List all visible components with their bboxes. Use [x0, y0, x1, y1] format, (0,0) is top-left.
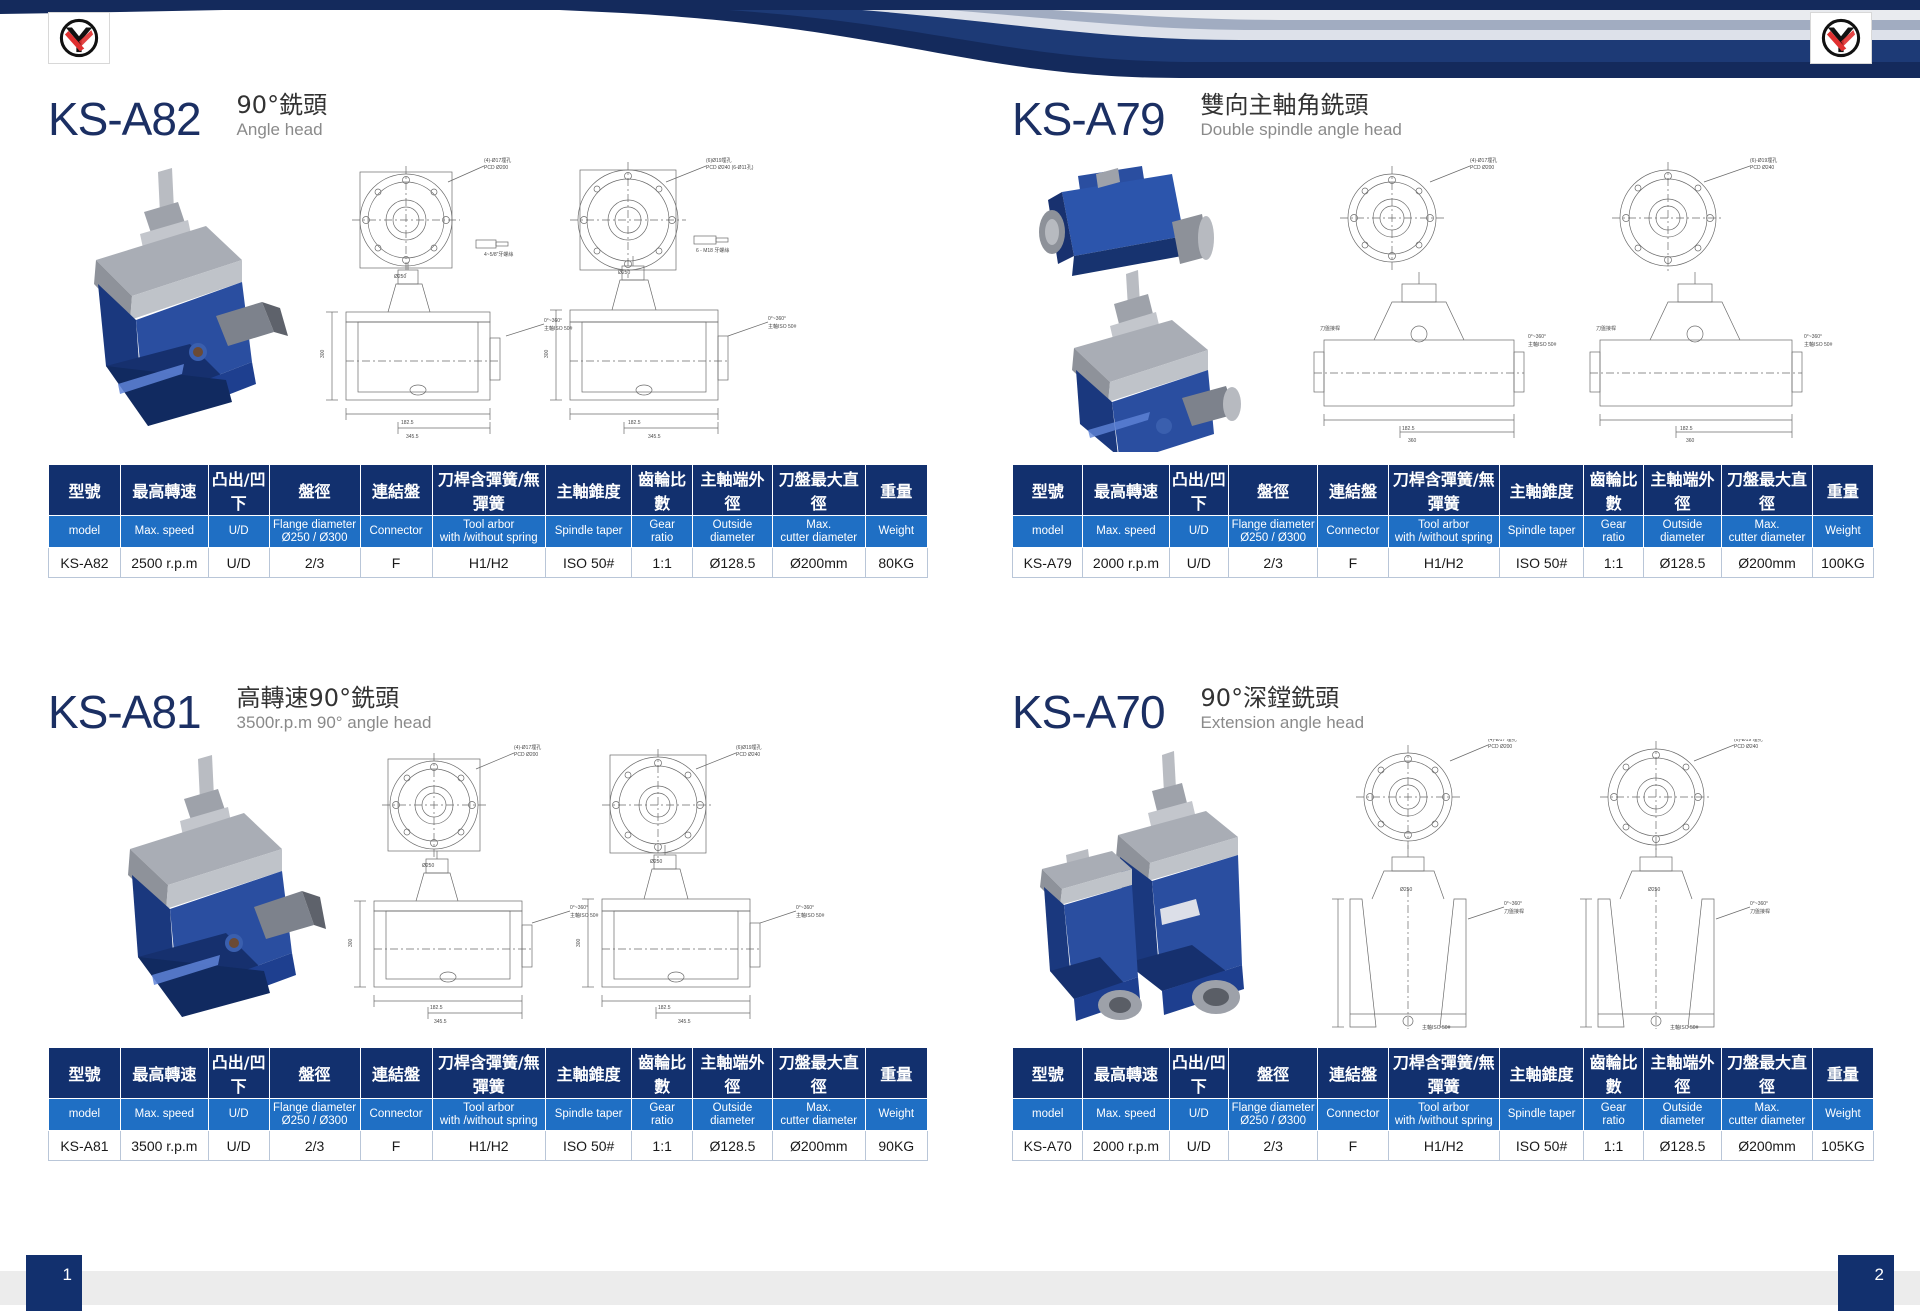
dim-value: Ø250: [1648, 887, 1660, 893]
product-title-en: Double spindle angle head: [1201, 120, 1402, 140]
dim-note: PCD Ø240: [1750, 165, 1774, 171]
th-en-flange: Flange diameterØ250 / Ø300: [1229, 516, 1318, 548]
cell-taper: ISO 50#: [1499, 1131, 1584, 1161]
cell-weight: 105KG: [1812, 1131, 1873, 1161]
cell-outside: Ø128.5: [1643, 548, 1721, 578]
dim-note: (4)-Ø17埋孔: [1470, 157, 1497, 164]
dim-note: PCD Ø200: [1470, 165, 1494, 171]
cell-gear: 1:1: [632, 1131, 693, 1161]
cell-speed: 3500 r.p.m: [120, 1131, 208, 1161]
cell-outside: Ø128.5: [693, 1131, 773, 1161]
dim-note: 0°~360°: [1750, 901, 1768, 907]
product-title-row: KS-A70 90°深鏜銑頭 Extension angle head: [1012, 685, 1874, 735]
th-en-gear: Gearratio: [1584, 1099, 1643, 1131]
footer-bar: [0, 1271, 1920, 1305]
dim-note: (4)-Ø17埋孔: [484, 157, 511, 164]
logo-right: [1810, 12, 1872, 64]
dim-value: 300: [576, 939, 582, 948]
table-header-en: model Max. speed U/D Flange diameterØ250…: [1013, 1099, 1874, 1131]
product-title-en: Extension angle head: [1201, 713, 1365, 733]
th-en-ud: U/D: [1169, 1099, 1228, 1131]
cell-arbor: H1/H2: [432, 1131, 545, 1161]
th-cn-outside: 主軸端外徑: [693, 1048, 773, 1099]
dim-note: 主軸ISO 50#: [570, 912, 599, 919]
cell-cutter: Ø200mm: [1722, 548, 1813, 578]
th-en-outside: Outsidediameter: [693, 1099, 773, 1131]
dim-note: 0°~360°: [544, 318, 562, 324]
header-swoosh-graphic: [0, 0, 1920, 78]
th-en-ud: U/D: [1169, 516, 1228, 548]
th-en-flange: Flange diameterØ250 / Ø300: [269, 1099, 360, 1131]
th-en-connector: Connector: [1318, 1099, 1388, 1131]
dim-note: (4)-Ø17埋孔: [514, 744, 541, 751]
dim-value: 345.5: [678, 1019, 691, 1025]
cell-ud: U/D: [1169, 1131, 1228, 1161]
dim-value: 182.5: [1402, 426, 1415, 432]
th-en-cutter: Max.cutter diameter: [1722, 516, 1813, 548]
technical-drawing-ks-a82: (4)-Ø17埋孔 PCD Ø200 (6)Ø19埋孔 PCD Ø240 (6-…: [298, 152, 938, 462]
dim-note: (6)-Ø19埋孔: [1750, 157, 1777, 164]
cell-ud: U/D: [1169, 548, 1228, 578]
cell-gear: 1:1: [1584, 548, 1643, 578]
table-header-cn: 型號 最高轉速 凸出/凹下 盤徑 連結盤 刀桿含彈簧/無彈簧 主軸錐度 齒輪比數…: [49, 465, 928, 516]
cell-connector: F: [1318, 1131, 1388, 1161]
th-en-outside: Outsidediameter: [1643, 1099, 1721, 1131]
th-en-arbor: Tool arborwith /without spring: [1388, 516, 1499, 548]
th-cn-connector: 連結盤: [360, 465, 432, 516]
dim-value: 182.5: [658, 1005, 671, 1011]
company-logo-icon: [57, 16, 101, 60]
th-cn-flange: 盤徑: [269, 465, 360, 516]
th-cn-flange: 盤徑: [1229, 465, 1318, 516]
th-cn-cutter: 刀盤最大直徑: [1722, 465, 1813, 516]
th-en-weight: Weight: [865, 516, 927, 548]
th-en-taper: Spindle taper: [1499, 1099, 1584, 1131]
product-photo-ks-a70: [1020, 749, 1280, 1039]
th-cn-flange: 盤徑: [1229, 1048, 1318, 1099]
dim-note: 主軸ISO 50#: [768, 323, 797, 330]
cell-flange: 2/3: [1229, 548, 1318, 578]
product-figures: (4)-Ø17埋孔 PCD Ø200 (6)-Ø19埋孔 PCD Ø240 18…: [1012, 156, 1874, 456]
th-en-connector: Connector: [360, 516, 432, 548]
cell-taper: ISO 50#: [545, 548, 631, 578]
cell-ud: U/D: [208, 548, 269, 578]
product-title-en: 3500r.p.m 90° angle head: [237, 713, 432, 733]
dim-note: 主軸ISO 50#: [1670, 1024, 1699, 1031]
th-cn-taper: 主軸錐度: [1499, 1048, 1584, 1099]
product-photo-ks-a82: [66, 156, 296, 456]
dim-note: 刀盤接桿: [1320, 325, 1340, 332]
dim-value: 360: [1408, 438, 1417, 444]
table-header-en: model Max. speed U/D Flange diameterØ250…: [49, 1099, 928, 1131]
dim-value: 182.5: [1680, 426, 1693, 432]
cell-taper: ISO 50#: [545, 1131, 631, 1161]
dim-value: 182.5: [401, 420, 414, 426]
dim-value: 345.5: [434, 1019, 447, 1025]
cell-arbor: H1/H2: [432, 548, 545, 578]
product-title-cn: 雙向主軸角銑頭: [1201, 92, 1402, 119]
page-footer: 1 2: [0, 1255, 1920, 1311]
th-en-connector: Connector: [360, 1099, 432, 1131]
cell-speed: 2000 r.p.m: [1083, 548, 1169, 578]
th-cn-arbor: 刀桿含彈簧/無彈簧: [1388, 1048, 1499, 1099]
th-en-speed: Max. speed: [120, 1099, 208, 1131]
th-cn-weight: 重量: [865, 465, 927, 516]
page-header: [0, 0, 1920, 78]
th-en-ud: U/D: [208, 1099, 269, 1131]
th-cn-ud: 凸出/凹下: [208, 465, 269, 516]
product-block-ks-a81: KS-A81 高轉速90°銑頭 3500r.p.m 90° angle head: [48, 685, 928, 1161]
table-header-en: model Max. speed U/D Flange diameterØ250…: [1013, 516, 1874, 548]
table-row: KS-A70 2000 r.p.m U/D 2/3 F H1/H2 ISO 50…: [1013, 1131, 1874, 1161]
page-number-left: 1: [26, 1255, 82, 1311]
cell-arbor: H1/H2: [1388, 1131, 1499, 1161]
dim-note: 0°~360°: [768, 316, 786, 322]
th-en-taper: Spindle taper: [1499, 516, 1584, 548]
dim-note: 0°~360°: [570, 905, 588, 911]
product-code: KS-A81: [48, 689, 201, 735]
dim-note: 主軸ISO 50#: [1804, 341, 1833, 348]
dim-note: PCD Ø240: [1734, 744, 1758, 750]
th-en-gear: Gearratio: [632, 516, 693, 548]
th-en-speed: Max. speed: [120, 516, 208, 548]
catalog-page: KS-A82 90°銑頭 Angle head: [0, 0, 1920, 1311]
th-cn-model: 型號: [49, 1048, 121, 1099]
cell-speed: 2500 r.p.m: [120, 548, 208, 578]
th-cn-gear: 齒輪比數: [1584, 1048, 1643, 1099]
spec-table-ks-a70: 型號 最高轉速 凸出/凹下 盤徑 連結盤 刀桿含彈簧/無彈簧 主軸錐度 齒輪比數…: [1012, 1047, 1874, 1161]
cell-taper: ISO 50#: [1499, 548, 1584, 578]
cell-connector: F: [1318, 548, 1388, 578]
dim-note: PCD Ø200: [1488, 744, 1512, 750]
cell-model: KS-A81: [49, 1131, 121, 1161]
th-en-ud: U/D: [208, 516, 269, 548]
dim-value: Ø250: [422, 863, 434, 869]
th-cn-speed: 最高轉速: [1083, 1048, 1169, 1099]
product-title-cn: 高轉速90°銑頭: [237, 685, 432, 712]
product-code: KS-A70: [1012, 689, 1165, 735]
th-en-model: model: [1013, 516, 1083, 548]
th-cn-connector: 連結盤: [1318, 465, 1388, 516]
dim-note: PCD Ø240: [736, 752, 760, 758]
th-en-taper: Spindle taper: [545, 1099, 631, 1131]
dim-note: (4)-Ø17 埋孔: [1488, 739, 1517, 743]
product-figures: (4)-Ø17埋孔 PCD Ø200 (6)Ø19埋孔 PCD Ø240 182…: [48, 749, 928, 1039]
product-photo-ks-a79: [1022, 152, 1272, 452]
th-cn-ud: 凸出/凹下: [1169, 1048, 1228, 1099]
dim-value: Ø250: [618, 270, 630, 276]
th-en-model: model: [49, 1099, 121, 1131]
product-figures: (4)-Ø17 埋孔 PCD Ø200 (6)-Ø19 埋孔 PCD Ø240 …: [1012, 749, 1874, 1039]
th-en-arbor: Tool arborwith /without spring: [432, 1099, 545, 1131]
th-en-flange: Flange diameterØ250 / Ø300: [269, 516, 360, 548]
th-cn-outside: 主軸端外徑: [1643, 465, 1721, 516]
th-en-cutter: Max.cutter diameter: [1722, 1099, 1813, 1131]
th-cn-weight: 重量: [865, 1048, 927, 1099]
th-cn-connector: 連結盤: [1318, 1048, 1388, 1099]
dim-value: Ø250: [650, 859, 662, 865]
table-row: KS-A82 2500 r.p.m U/D 2/3 F H1/H2 ISO 50…: [49, 548, 928, 578]
product-title-cn: 90°深鏜銑頭: [1201, 685, 1365, 712]
th-en-gear: Gearratio: [632, 1099, 693, 1131]
th-cn-cutter: 刀盤最大直徑: [772, 465, 865, 516]
product-block-ks-a70: KS-A70 90°深鏜銑頭 Extension angle head: [1012, 685, 1874, 1161]
dim-note: (6)Ø19埋孔: [706, 157, 732, 164]
th-cn-speed: 最高轉速: [1083, 465, 1169, 516]
th-cn-gear: 齒輪比數: [632, 465, 693, 516]
th-cn-ud: 凸出/凹下: [1169, 465, 1228, 516]
th-en-weight: Weight: [1812, 516, 1873, 548]
cell-model: KS-A82: [49, 548, 121, 578]
product-title-row: KS-A81 高轉速90°銑頭 3500r.p.m 90° angle head: [48, 685, 928, 735]
dim-note: PCD Ø200: [484, 165, 508, 171]
th-cn-ud: 凸出/凹下: [208, 1048, 269, 1099]
dim-note: 主軸ISO 50#: [796, 912, 825, 919]
cell-gear: 1:1: [1584, 1131, 1643, 1161]
th-cn-outside: 主軸端外徑: [693, 465, 773, 516]
th-cn-speed: 最高轉速: [120, 465, 208, 516]
product-figures: (4)-Ø17埋孔 PCD Ø200 (6)Ø19埋孔 PCD Ø240 (6-…: [48, 156, 928, 456]
th-en-model: model: [1013, 1099, 1083, 1131]
dim-value: 300: [348, 939, 354, 948]
spec-table-ks-a82: 型號 最高轉速 凸出/凹下 盤徑 連結盤 刀桿含彈簧/無彈簧 主軸錐度 齒輪比數…: [48, 464, 928, 578]
cell-model: KS-A70: [1013, 1131, 1083, 1161]
spec-table-ks-a79: 型號 最高轉速 凸出/凹下 盤徑 連結盤 刀桿含彈簧/無彈簧 主軸錐度 齒輪比數…: [1012, 464, 1874, 578]
th-cn-outside: 主軸端外徑: [1643, 1048, 1721, 1099]
th-cn-taper: 主軸錐度: [545, 1048, 631, 1099]
cell-weight: 100KG: [1812, 548, 1873, 578]
cell-connector: F: [360, 548, 432, 578]
dim-note: 0°~360°: [1528, 334, 1546, 340]
technical-drawing-ks-a70: (4)-Ø17 埋孔 PCD Ø200 (6)-Ø19 埋孔 PCD Ø240 …: [1288, 739, 1878, 1039]
dim-note: 0°~360°: [1804, 334, 1822, 340]
cell-cutter: Ø200mm: [1722, 1131, 1813, 1161]
th-cn-cutter: 刀盤最大直徑: [772, 1048, 865, 1099]
th-en-speed: Max. speed: [1083, 1099, 1169, 1131]
th-cn-cutter: 刀盤最大直徑: [1722, 1048, 1813, 1099]
cell-cutter: Ø200mm: [772, 1131, 865, 1161]
cell-outside: Ø128.5: [1643, 1131, 1721, 1161]
cell-weight: 80KG: [865, 548, 927, 578]
th-en-weight: Weight: [1812, 1099, 1873, 1131]
dim-note: 刀盤接桿: [1596, 325, 1616, 332]
table-header-en: model Max. speed U/D Flange diameterØ250…: [49, 516, 928, 548]
product-title-row: KS-A82 90°銑頭 Angle head: [48, 92, 928, 142]
company-logo-icon: [1819, 16, 1863, 60]
th-en-connector: Connector: [1318, 516, 1388, 548]
dim-note: 0°~360°: [796, 905, 814, 911]
table-row: KS-A81 3500 r.p.m U/D 2/3 F H1/H2 ISO 50…: [49, 1131, 928, 1161]
th-en-model: model: [49, 516, 121, 548]
th-cn-weight: 重量: [1812, 465, 1873, 516]
dim-value: Ø250: [394, 274, 406, 280]
dim-note: 主軸ISO 50#: [1422, 1024, 1451, 1031]
dim-note: 刀盤接桿: [1750, 908, 1770, 915]
dim-note: 主軸ISO 50#: [544, 325, 573, 332]
dim-value: 300: [320, 350, 326, 359]
th-en-taper: Spindle taper: [545, 516, 631, 548]
th-en-outside: Outsidediameter: [1643, 516, 1721, 548]
spec-table-ks-a81: 型號 最高轉速 凸出/凹下 盤徑 連結盤 刀桿含彈簧/無彈簧 主軸錐度 齒輪比數…: [48, 1047, 928, 1161]
cell-arbor: H1/H2: [1388, 548, 1499, 578]
dim-note: (6)Ø19埋孔: [736, 744, 762, 751]
th-cn-speed: 最高轉速: [120, 1048, 208, 1099]
table-header-cn: 型號 最高轉速 凸出/凹下 盤徑 連結盤 刀桿含彈簧/無彈簧 主軸錐度 齒輪比數…: [1013, 465, 1874, 516]
table-row: KS-A79 2000 r.p.m U/D 2/3 F H1/H2 ISO 50…: [1013, 548, 1874, 578]
dim-value: 345.5: [406, 434, 419, 440]
product-block-ks-a79: KS-A79 雙向主軸角銑頭 Double spindle angle head: [1012, 92, 1874, 578]
page-number-right: 2: [1838, 1255, 1894, 1311]
th-cn-taper: 主軸錐度: [545, 465, 631, 516]
product-block-ks-a82: KS-A82 90°銑頭 Angle head: [48, 92, 928, 578]
cell-weight: 90KG: [865, 1131, 927, 1161]
cell-speed: 2000 r.p.m: [1083, 1131, 1169, 1161]
cell-gear: 1:1: [632, 548, 693, 578]
dim-value: 182.5: [628, 420, 641, 426]
logo-left: [48, 12, 110, 64]
th-en-gear: Gearratio: [1584, 516, 1643, 548]
product-code: KS-A82: [48, 96, 201, 142]
th-cn-flange: 盤徑: [269, 1048, 360, 1099]
cell-cutter: Ø200mm: [772, 548, 865, 578]
th-cn-model: 型號: [1013, 465, 1083, 516]
dim-value: 300: [544, 350, 550, 359]
table-header-cn: 型號 最高轉速 凸出/凹下 盤徑 連結盤 刀桿含彈簧/無彈簧 主軸錐度 齒輪比數…: [49, 1048, 928, 1099]
dim-value: 345.5: [648, 434, 661, 440]
dim-note: 4~5/8"牙螺絲: [484, 251, 513, 258]
product-title-en: Angle head: [237, 120, 328, 140]
dim-note: 6 - M18 牙螺絲: [696, 247, 729, 254]
cell-ud: U/D: [208, 1131, 269, 1161]
th-cn-gear: 齒輪比數: [632, 1048, 693, 1099]
th-cn-arbor: 刀桿含彈簧/無彈簧: [1388, 465, 1499, 516]
product-title-row: KS-A79 雙向主軸角銑頭 Double spindle angle head: [1012, 92, 1874, 142]
th-en-cutter: Max.cutter diameter: [772, 516, 865, 548]
dim-value: 182.5: [430, 1005, 443, 1011]
th-cn-gear: 齒輪比數: [1584, 465, 1643, 516]
dim-note: PCD Ø200: [514, 752, 538, 758]
dim-note: (6)-Ø19 埋孔: [1734, 739, 1763, 743]
cell-flange: 2/3: [1229, 1131, 1318, 1161]
th-en-arbor: Tool arborwith /without spring: [1388, 1099, 1499, 1131]
th-en-cutter: Max.cutter diameter: [772, 1099, 865, 1131]
dim-note: PCD Ø240 (6-Ø11孔): [706, 164, 754, 171]
th-en-flange: Flange diameterØ250 / Ø300: [1229, 1099, 1318, 1131]
product-code: KS-A79: [1012, 96, 1165, 142]
th-cn-weight: 重量: [1812, 1048, 1873, 1099]
dim-value: Ø250: [1400, 887, 1412, 893]
th-cn-arbor: 刀桿含彈簧/無彈簧: [432, 465, 545, 516]
cell-flange: 2/3: [269, 1131, 360, 1161]
dim-note: 0°~360°: [1504, 901, 1522, 907]
product-title-cn: 90°銑頭: [237, 92, 328, 119]
dim-note: 刀盤接桿: [1504, 908, 1524, 915]
th-cn-model: 型號: [49, 465, 121, 516]
th-en-arbor: Tool arborwith /without spring: [432, 516, 545, 548]
technical-drawing-ks-a81: (4)-Ø17埋孔 PCD Ø200 (6)Ø19埋孔 PCD Ø240 182…: [318, 743, 938, 1043]
cell-flange: 2/3: [269, 548, 360, 578]
cell-outside: Ø128.5: [693, 548, 773, 578]
th-en-speed: Max. speed: [1083, 516, 1169, 548]
cell-model: KS-A79: [1013, 548, 1083, 578]
dim-note: 主軸ISO 50#: [1528, 341, 1557, 348]
dim-value: 360: [1686, 438, 1695, 444]
th-cn-arbor: 刀桿含彈簧/無彈簧: [432, 1048, 545, 1099]
th-cn-connector: 連結盤: [360, 1048, 432, 1099]
th-en-outside: Outsidediameter: [693, 516, 773, 548]
th-cn-taper: 主軸錐度: [1499, 465, 1584, 516]
cell-connector: F: [360, 1131, 432, 1161]
technical-drawing-ks-a79: (4)-Ø17埋孔 PCD Ø200 (6)-Ø19埋孔 PCD Ø240 18…: [1280, 152, 1880, 462]
product-photo-ks-a81: [88, 749, 328, 1039]
th-cn-model: 型號: [1013, 1048, 1083, 1099]
th-en-weight: Weight: [865, 1099, 927, 1131]
table-header-cn: 型號 最高轉速 凸出/凹下 盤徑 連結盤 刀桿含彈簧/無彈簧 主軸錐度 齒輪比數…: [1013, 1048, 1874, 1099]
